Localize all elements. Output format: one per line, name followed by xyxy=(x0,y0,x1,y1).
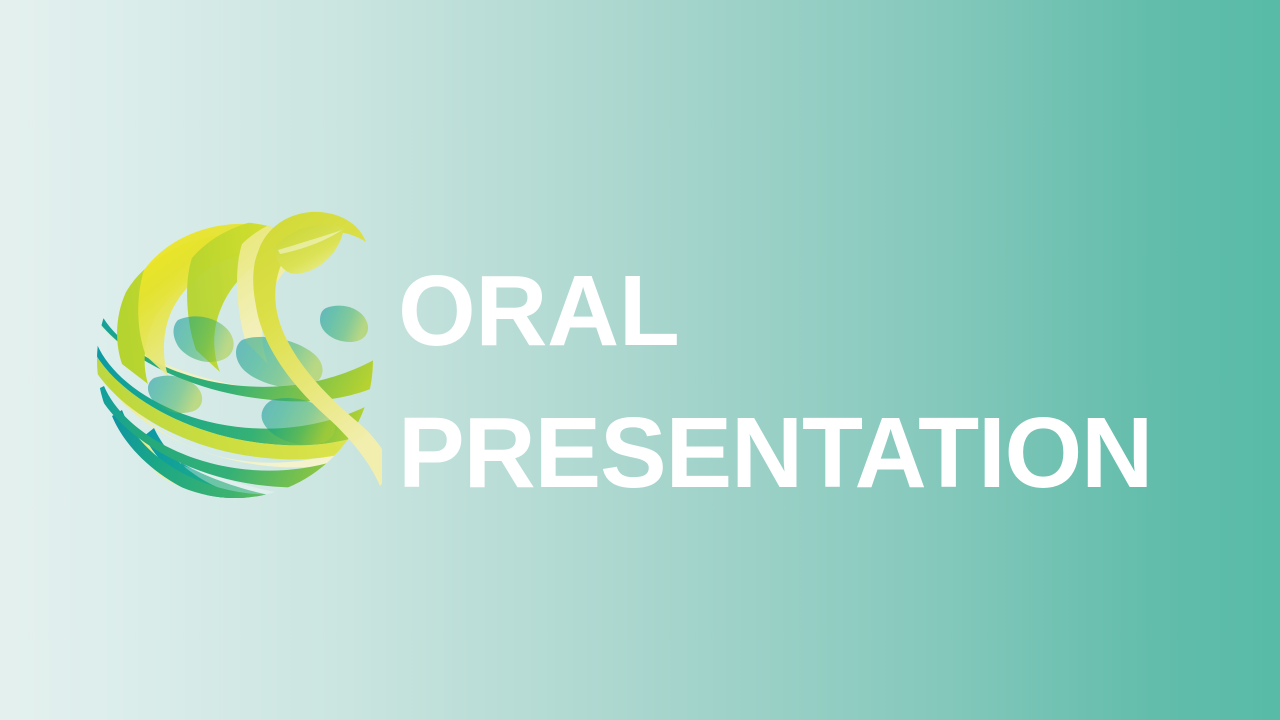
globe-ribbon-leaf-logo xyxy=(92,200,382,520)
title-line-oral: ORAL xyxy=(398,240,1218,382)
presentation-slide: ORAL PRESENTATION xyxy=(0,0,1280,720)
globe-body xyxy=(92,212,382,520)
page-title: ORAL PRESENTATION xyxy=(398,240,1218,524)
title-line-presentation: PRESENTATION xyxy=(398,382,1218,524)
